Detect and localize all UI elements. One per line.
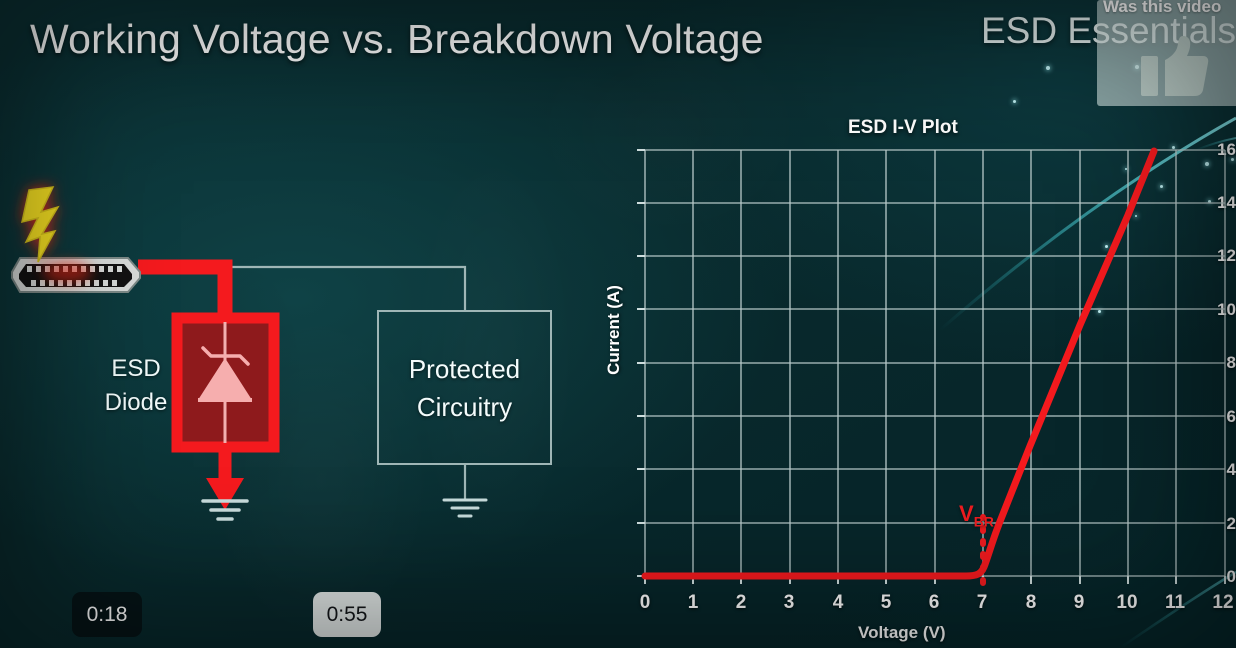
chart-x-axis-title: Voltage (V)	[858, 623, 946, 643]
video-frame: Working Voltage vs. Breakdown Voltage ES…	[0, 0, 1236, 648]
sparkle-particle	[1013, 100, 1016, 103]
protected-circuitry-box: Protected Circuitry	[377, 310, 552, 465]
protected-circuitry-label-line1: Protected	[379, 350, 550, 388]
current-time-chip[interactable]: 0:18	[72, 592, 142, 637]
esd-diode-component[interactable]	[177, 318, 274, 447]
vbr-sub-text: BR	[974, 513, 994, 529]
protected-circuitry-label: Protected Circuitry	[379, 350, 550, 426]
iv-chart: ESD I-V Plot Current (A) Voltage (V) 16 …	[578, 105, 1236, 648]
survey-question: Was this video	[1103, 0, 1221, 17]
sparkle-particle	[1046, 66, 1050, 70]
hdmi-connector-icon	[12, 258, 140, 292]
esd-diode-label-line2: Diode	[88, 386, 184, 420]
esd-diode-label-line1: ESD	[88, 352, 184, 386]
ground-icon	[444, 500, 486, 516]
thumbs-up-icon[interactable]	[1141, 36, 1209, 98]
esd-diode-label: ESD Diode	[88, 352, 184, 420]
vbr-main-text: V	[959, 501, 974, 526]
total-time-chip[interactable]: 0:55	[313, 592, 381, 637]
breakdown-voltage-label: VBR	[959, 501, 994, 529]
lightning-bolt-icon	[22, 187, 58, 262]
protected-circuitry-label-line2: Circuitry	[379, 388, 550, 426]
circuit-diagram	[0, 0, 600, 560]
chart-plot-area	[578, 105, 1236, 615]
